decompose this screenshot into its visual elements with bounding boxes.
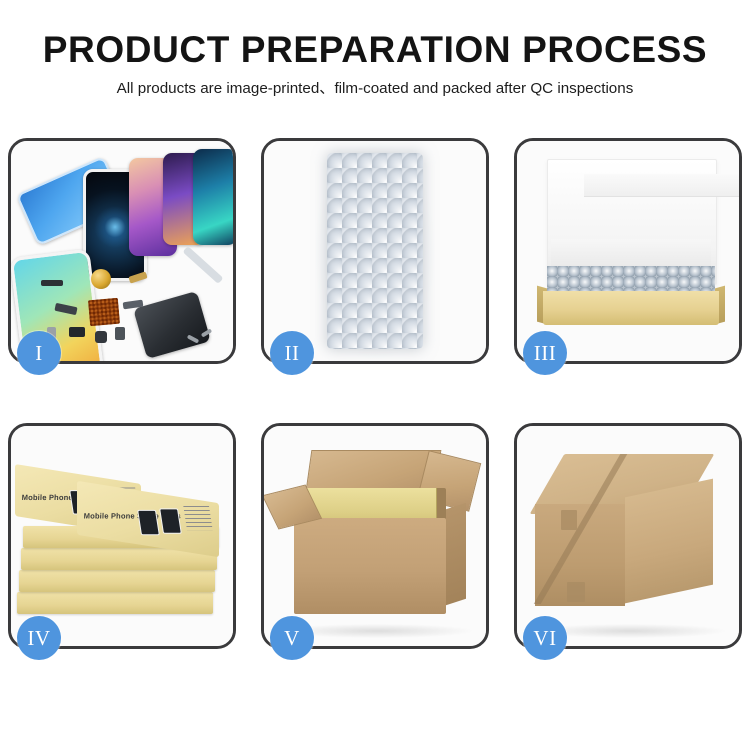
page-subtitle: All products are image-printed、film-coat…: [0, 79, 750, 99]
step-image-6: [517, 426, 739, 646]
step-badge-3: III: [523, 331, 567, 375]
step-card-5[interactable]: V: [261, 423, 489, 649]
header: PRODUCT PREPARATION PROCESS All products…: [0, 28, 750, 99]
step-image-3: [517, 141, 739, 361]
step-badge-5: V: [270, 616, 314, 660]
spare-part-icon: [41, 280, 63, 286]
box-stack-icon: Mobile Phone Spare Parts Mobile Phone Sp…: [15, 440, 233, 638]
spare-part-icon: [95, 331, 107, 343]
step-card-2[interactable]: II: [261, 138, 489, 364]
step-card-3[interactable]: III: [514, 138, 742, 364]
step-badge-6: VI: [523, 616, 567, 660]
box-art-phone: [159, 508, 182, 533]
box-spec-lines: [183, 506, 212, 530]
phone-screen-teal-icon: [193, 149, 233, 245]
spare-part-icon: [115, 327, 125, 340]
page-title: PRODUCT PREPARATION PROCESS: [0, 28, 750, 72]
phones-and-parts-scene: [11, 141, 233, 361]
carton-tape-icon: [567, 582, 585, 602]
tweezers-icon: [182, 246, 223, 284]
box-art-phone: [137, 510, 160, 535]
process-steps-grid: I II III: [8, 138, 742, 649]
step-badge-4: IV: [17, 616, 61, 660]
step-image-5: [264, 426, 486, 646]
stacked-box: [19, 570, 215, 592]
speaker-module-icon: [91, 269, 111, 289]
step-badge-1: I: [17, 331, 61, 375]
step-image-2: [264, 141, 486, 361]
step-card-6[interactable]: VI: [514, 423, 742, 649]
mailer-box-flap: [584, 174, 739, 197]
step-card-1[interactable]: I: [8, 138, 236, 364]
carton-front-icon: [294, 518, 446, 614]
carton-tape-icon: [561, 510, 577, 530]
step-card-4[interactable]: Mobile Phone Spare Parts Mobile Phone Sp…: [8, 423, 236, 649]
carton-right-side: [446, 503, 466, 605]
step-image-4: Mobile Phone Spare Parts Mobile Phone Sp…: [11, 426, 233, 646]
step-image-1: [11, 141, 233, 361]
foam-liner-icon: [551, 239, 711, 269]
spare-part-icon: [69, 327, 85, 337]
sealed-carton-right-side: [625, 479, 713, 604]
mailer-box-front-icon: [543, 291, 719, 325]
stacked-box: [17, 592, 213, 614]
chip-grid-icon: [88, 298, 120, 327]
product-preparation-infographic: PRODUCT PREPARATION PROCESS All products…: [0, 0, 750, 750]
step-badge-2: II: [270, 331, 314, 375]
bubble-wrapped-contents-icon: [547, 266, 715, 294]
bubble-wrap-icon: [327, 153, 423, 349]
phone-back-housing-icon: [133, 291, 211, 359]
